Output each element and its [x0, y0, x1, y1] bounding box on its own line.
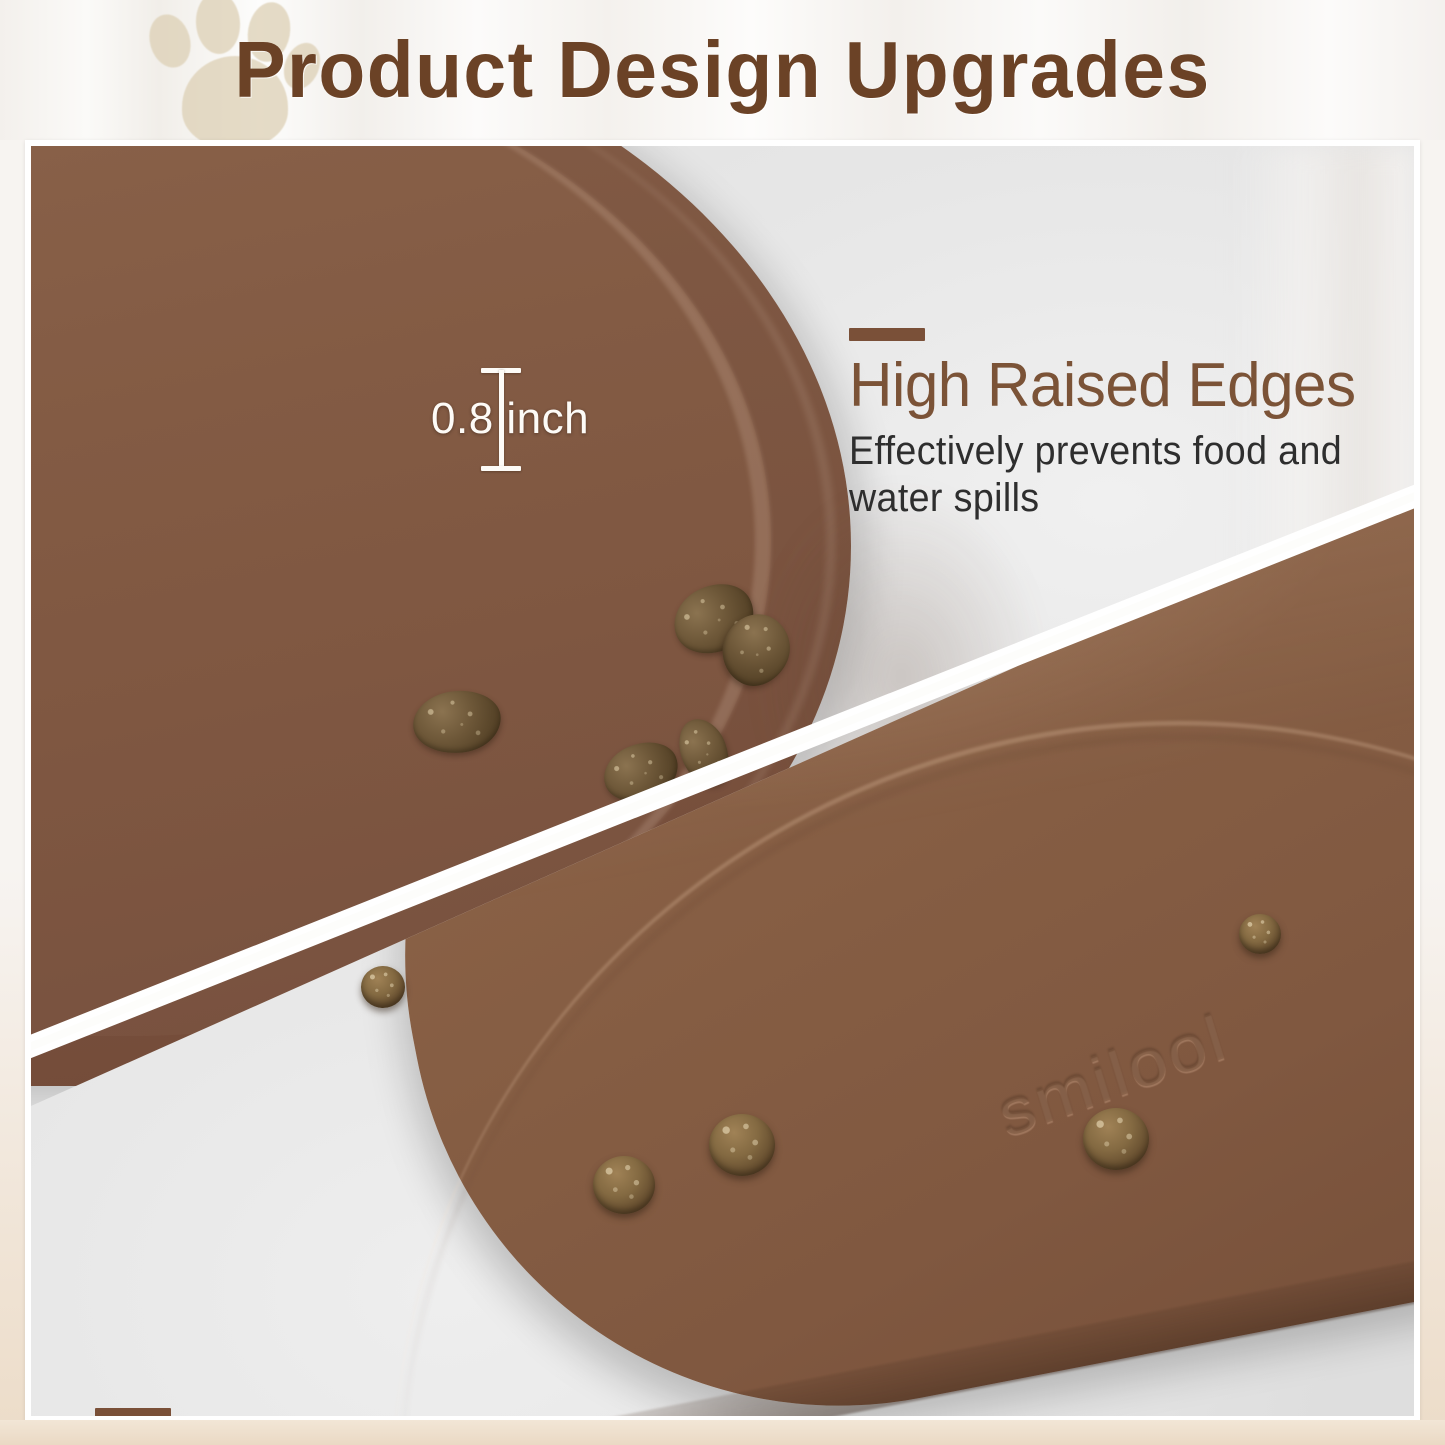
callout-heading: High Raised Edges: [849, 353, 1397, 418]
kibble-piece: [709, 1114, 775, 1176]
callout-accent-bar: [849, 328, 925, 341]
measure-cap-bottom: [481, 466, 521, 471]
product-photo-frame: 0.8 inch smilool: [25, 140, 1420, 1422]
product-feature-infographic: Product Design Upgrades: [0, 0, 1445, 1445]
kibble-piece: [361, 966, 405, 1008]
kibble-piece: [593, 1156, 655, 1214]
dimension-callout: 0.8 inch: [449, 368, 629, 488]
callout-keeping-floor-clean: Keeping the floor clean Minimizes time s…: [95, 1408, 960, 1416]
kibble-piece: [1083, 1108, 1149, 1170]
callout-accent-bar: [95, 1408, 171, 1416]
bottom-accent-strip: [0, 1420, 1445, 1445]
callout-subtext: Effectively prevents food and water spil…: [849, 428, 1380, 522]
measure-label: 0.8 inch: [431, 394, 611, 444]
page-title: Product Design Upgrades: [29, 0, 1416, 140]
callout-high-raised-edges: High Raised Edges Effectively prevents f…: [849, 328, 1414, 522]
header-band: Product Design Upgrades: [0, 0, 1445, 140]
product-photo: 0.8 inch smilool: [31, 146, 1414, 1416]
kibble-piece: [1239, 914, 1281, 954]
